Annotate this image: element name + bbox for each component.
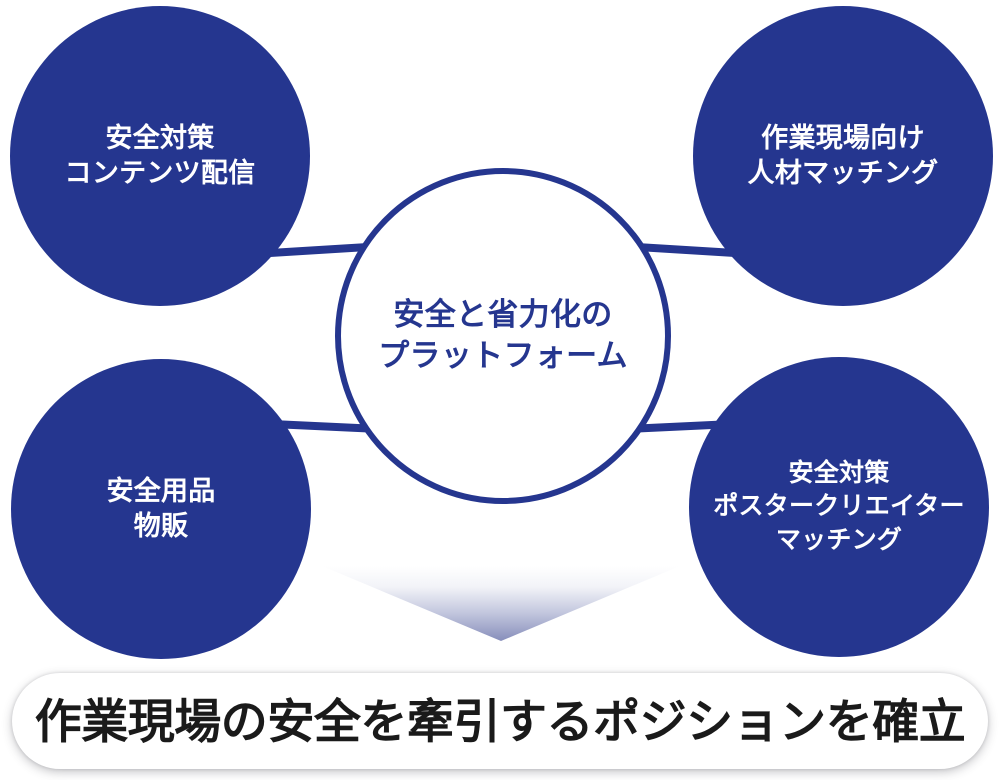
circle-label-safety-goods-sales: 安全用品 物販 xyxy=(106,474,215,544)
circle-label-safety-poster-creator-matching: 安全対策 ポスタークリエイター マッチング xyxy=(713,457,965,558)
circle-label-platform-hub: 安全と省力化の プラットフォーム xyxy=(378,295,628,377)
circle-safety-goods-sales[interactable]: 安全用品 物販 xyxy=(11,359,311,659)
circle-safety-content-delivery[interactable]: 安全対策 コンテンツ配信 xyxy=(10,6,310,306)
circle-label-worksite-hr-matching: 作業現場向け 人材マッチング xyxy=(748,121,939,191)
circle-worksite-hr-matching[interactable]: 作業現場向け 人材マッチング xyxy=(693,6,993,306)
circle-label-safety-content-delivery: 安全対策 コンテンツ配信 xyxy=(65,121,256,191)
conclusion-banner: 作業現場の安全を牽引するポジションを確立 xyxy=(12,673,988,769)
circle-platform-hub[interactable]: 安全と省力化の プラットフォーム xyxy=(335,168,671,504)
down-arrow-icon xyxy=(322,566,680,641)
diagram-canvas: 安全対策 コンテンツ配信 作業現場向け 人材マッチング 安全用品 物販 安全対策… xyxy=(0,0,1000,780)
circle-safety-poster-creator-matching[interactable]: 安全対策 ポスタークリエイター マッチング xyxy=(689,357,989,657)
conclusion-banner-text: 作業現場の安全を牽引するポジションを確立 xyxy=(35,698,966,745)
